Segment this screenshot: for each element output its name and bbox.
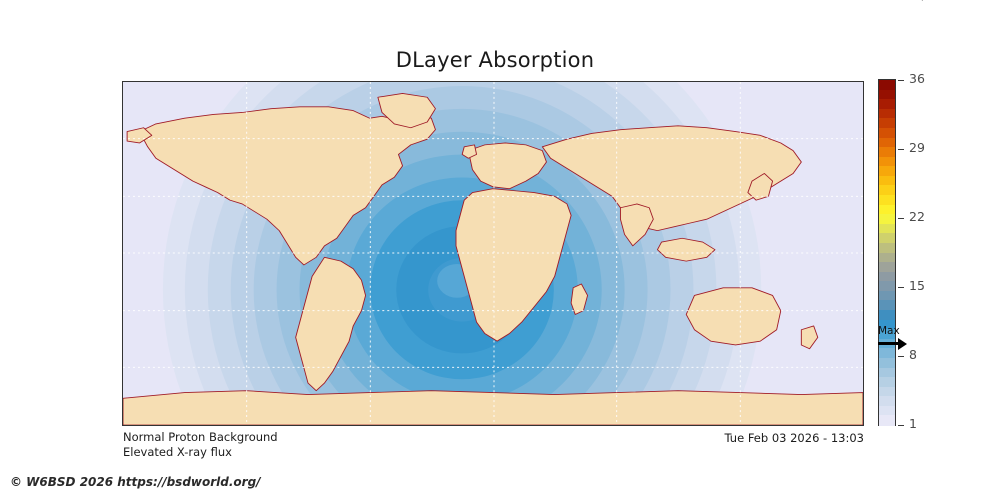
page-title: DLayer Absorption [0,48,990,72]
colorbar-tick-1: 1 [898,425,958,426]
figure-canvas: DLayer Absorption [0,0,1000,500]
colorbar-tick-29: 29 [898,149,958,150]
copyright-text: © W6BSD 2026 https://bsdworld.org/ [10,475,261,489]
colorbar-tick-22: 22 [898,218,958,219]
right-arrow-head-icon [898,338,907,350]
colorbar-tick-15: 15 [898,287,958,288]
graticule-layer [123,82,863,425]
xray-status-text: Elevated X-ray flux [123,445,232,459]
colorbar-axis-label: Affected Frequency (MHz) [905,0,929,75]
colorbar-segment [879,415,895,426]
world-map-plot[interactable] [122,81,864,426]
colorbar-tick-36: 36 [898,80,958,81]
colorbar-tick-8: 8 [898,356,958,357]
colorbar[interactable] [878,79,896,426]
proton-status-text: Normal Proton Background [123,430,278,444]
timestamp-text: Tue Feb 03 2026 - 13:03 [725,431,864,445]
